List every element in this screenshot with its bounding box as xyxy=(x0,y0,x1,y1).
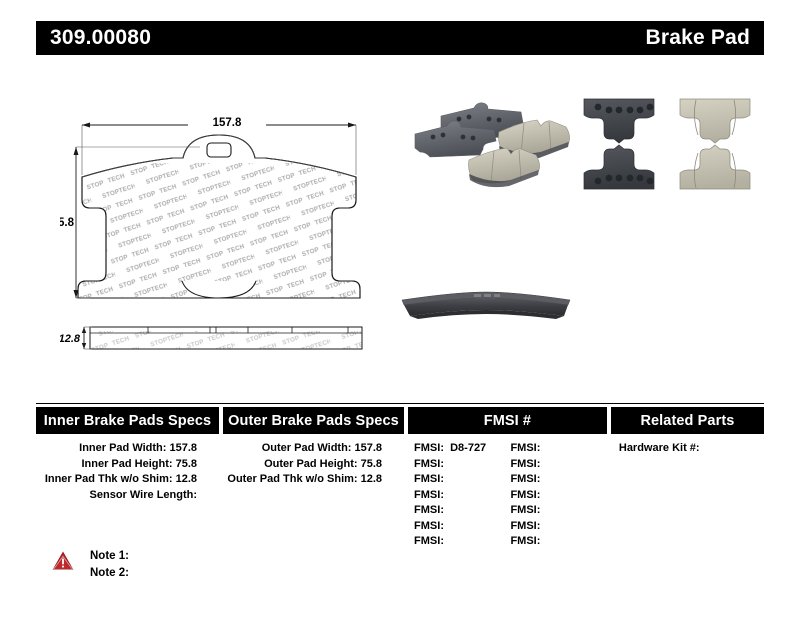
fmsi-column-right: FMSI: FMSI: FMSI: FMSI: FMSI: FMSI: FMSI… xyxy=(510,441,606,549)
pad-backing-plate xyxy=(584,145,654,189)
note-lines: Note 1: Note 2: xyxy=(90,548,129,582)
pad-friction-material xyxy=(680,99,750,143)
fmsi-line: FMSI: xyxy=(510,472,606,488)
related-part-line: Hardware Kit #: xyxy=(619,441,764,457)
technical-drawing: STOP TECH STOPTECH xyxy=(60,105,400,355)
column-header-outer-specs: Outer Brake Pads Specs xyxy=(223,407,404,434)
fmsi-line: FMSI: D8-727 xyxy=(414,441,510,457)
pad-tab-slot xyxy=(207,143,231,157)
pad-backing-plate xyxy=(584,99,654,143)
fmsi-line: FMSI: xyxy=(414,519,510,535)
drawing-area: STOP TECH STOPTECH xyxy=(36,85,764,375)
inner-specs-list: Inner Pad Width: 157.8 Inner Pad Height:… xyxy=(36,441,219,549)
table-top-rule xyxy=(36,403,764,404)
spec-line: Outer Pad Height: 75.8 xyxy=(223,457,382,473)
product-photo-edge-view xyxy=(396,283,576,331)
spec-line: Outer Pad Thk w/o Shim: 12.8 xyxy=(223,472,382,488)
spec-line: Outer Pad Width: 157.8 xyxy=(223,441,382,457)
table-body-row: Inner Pad Width: 157.8 Inner Pad Height:… xyxy=(36,434,764,549)
product-photo-angled xyxy=(411,90,591,195)
fmsi-line: FMSI: xyxy=(510,519,606,535)
spec-table: Inner Brake Pads Specs Outer Brake Pads … xyxy=(36,403,764,549)
product-photo-flat-grid xyxy=(576,85,766,200)
fmsi-line: FMSI: xyxy=(510,457,606,473)
column-header-inner-specs: Inner Brake Pads Specs xyxy=(36,407,219,434)
spec-line: Inner Pad Height: 75.8 xyxy=(36,457,197,473)
dim-height-label: 75.8 xyxy=(60,217,75,229)
spec-line: Sensor Wire Length: xyxy=(36,488,197,504)
fmsi-line: FMSI: xyxy=(510,503,606,519)
fmsi-line: FMSI: xyxy=(510,488,606,504)
spec-line: Inner Pad Thk w/o Shim: 12.8 xyxy=(36,472,197,488)
fmsi-line: FMSI: xyxy=(414,534,510,550)
note-line: Note 2: xyxy=(90,565,129,582)
warning-triangle-icon xyxy=(52,551,74,571)
fmsi-line: FMSI: xyxy=(414,488,510,504)
pad-friction-material xyxy=(680,145,750,189)
column-header-related-parts: Related Parts xyxy=(611,407,764,434)
part-number: 309.00080 xyxy=(50,26,151,50)
fmsi-list: FMSI: D8-727 FMSI: FMSI: FMSI: FMSI: FMS… xyxy=(408,441,607,549)
fmsi-column-left: FMSI: D8-727 FMSI: FMSI: FMSI: FMSI: FMS… xyxy=(414,441,510,549)
fmsi-line: FMSI: xyxy=(414,472,510,488)
title-bar: 309.00080 Brake Pad xyxy=(36,21,764,55)
fmsi-line: FMSI: xyxy=(510,534,606,550)
fmsi-line: FMSI: xyxy=(414,457,510,473)
column-header-fmsi: FMSI # xyxy=(408,407,607,434)
spec-line: Inner Pad Width: 157.8 xyxy=(36,441,197,457)
pad-side-view xyxy=(88,327,364,351)
fmsi-line: FMSI: xyxy=(414,503,510,519)
notes-section: Note 1: Note 2: xyxy=(52,548,129,582)
pad-front-view xyxy=(74,135,369,303)
dim-thickness-label: 12.8 xyxy=(60,333,81,345)
fmsi-line: FMSI: xyxy=(510,441,606,457)
outer-specs-list: Outer Pad Width: 157.8 Outer Pad Height:… xyxy=(223,441,404,549)
related-parts-list: Hardware Kit #: xyxy=(611,441,764,549)
table-header-row: Inner Brake Pads Specs Outer Brake Pads … xyxy=(36,407,764,434)
product-type: Brake Pad xyxy=(645,26,750,50)
note-line: Note 1: xyxy=(90,548,129,565)
dim-width-label: 157.8 xyxy=(213,117,242,129)
